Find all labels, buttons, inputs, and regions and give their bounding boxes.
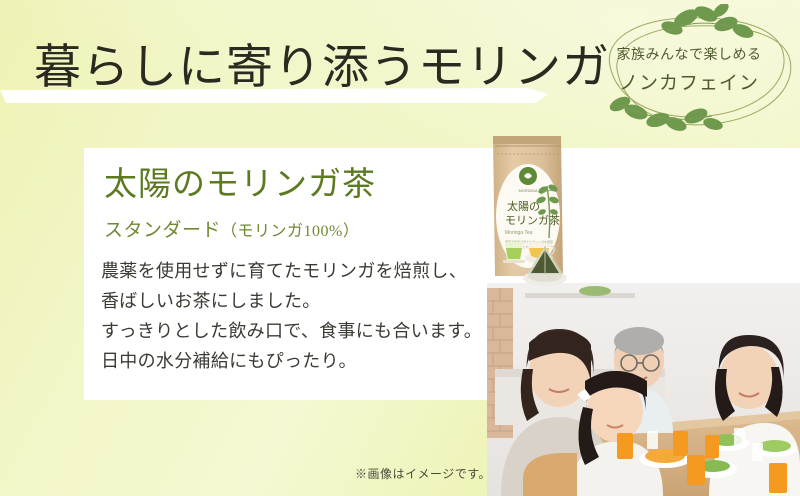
package-illustration: MORINGA 太陽の モリンガ茶 Moringa Tea 農薬不使用で育てたモ… bbox=[483, 124, 579, 296]
noncaffeine-badge: 家族みんなで楽しめる ノンカフェイン bbox=[580, 4, 798, 134]
svg-text:太陽の: 太陽の bbox=[507, 200, 540, 213]
svg-text:モリンガ茶: モリンガ茶 bbox=[505, 214, 560, 227]
image-disclaimer: ※画像はイメージです。 bbox=[355, 465, 491, 482]
promo-banner: 暮らしに寄り添うモリンガ bbox=[0, 0, 800, 496]
svg-text:MORINGA: MORINGA bbox=[518, 188, 537, 193]
product-package: MORINGA 太陽の モリンガ茶 Moringa Tea 農薬不使用で育てたモ… bbox=[483, 124, 579, 296]
product-title: 太陽のモリンガ茶 bbox=[104, 163, 376, 207]
badge-frame-icon bbox=[580, 4, 798, 134]
description-line-2: 香ばしいお茶にしました。 bbox=[101, 286, 501, 316]
leaf-cluster-bottom bbox=[607, 94, 724, 134]
product-subtitle-note: （モリンガ100%） bbox=[221, 223, 359, 240]
product-subtitle-main: スタンダード bbox=[104, 220, 221, 241]
product-subtitle: スタンダード（モリンガ100%） bbox=[104, 218, 359, 245]
product-description: 農薬を使用せずに育てたモリンガを焙煎し、 香ばしいお茶にしました。 すっきりとし… bbox=[101, 256, 501, 376]
family-dining-photo bbox=[487, 283, 800, 496]
svg-text:Moringa Tea: Moringa Tea bbox=[505, 230, 533, 236]
description-line-4: 日中の水分補給にもぴったり。 bbox=[101, 346, 501, 376]
description-line-3: すっきりとした飲み口で、食事にも合います。 bbox=[101, 316, 501, 346]
page-title: 暮らしに寄り添うモリンガ bbox=[34, 34, 574, 102]
description-line-1: 農薬を使用せずに育てたモリンガを焙煎し、 bbox=[101, 256, 501, 286]
photo-illustration bbox=[487, 283, 800, 496]
